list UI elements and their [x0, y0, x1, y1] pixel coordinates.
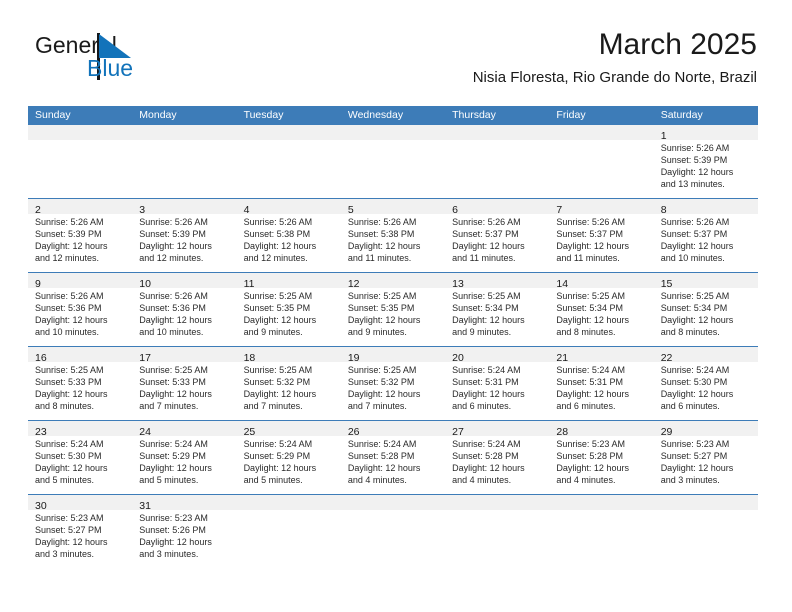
daylight-duration-line2: and 4 minutes.: [452, 474, 543, 486]
daylight-duration-line2: and 3 minutes.: [139, 548, 230, 560]
daylight-duration-line1: Daylight: 12 hours: [556, 388, 647, 400]
day-number: 12: [348, 278, 360, 290]
sunrise-time: Sunrise: 5:24 AM: [556, 364, 647, 376]
sunrise-time: Sunrise: 5:25 AM: [556, 290, 647, 302]
day-number-band: 8: [654, 199, 758, 214]
daylight-duration-line2: and 9 minutes.: [452, 326, 543, 338]
calendar-day-cell[interactable]: 8Sunrise: 5:26 AMSunset: 5:37 PMDaylight…: [654, 199, 758, 272]
day-number: 14: [556, 278, 568, 290]
sunrise-time: Sunrise: 5:25 AM: [244, 290, 335, 302]
sunrise-time: Sunrise: 5:25 AM: [139, 364, 230, 376]
calendar-day-cell[interactable]: 27Sunrise: 5:24 AMSunset: 5:28 PMDayligh…: [445, 421, 549, 494]
day-number: 31: [139, 500, 151, 512]
page-header: General Blue March 2025 Nisia Floresta, …: [35, 26, 757, 98]
day-number-band: 29: [654, 421, 758, 436]
day-number: 28: [556, 426, 568, 438]
calendar-day-cell-empty: [549, 125, 653, 198]
weekday-header-thursday: Thursday: [445, 106, 549, 125]
calendar-day-cell[interactable]: 1Sunrise: 5:26 AMSunset: 5:39 PMDaylight…: [654, 125, 758, 198]
day-details: Sunrise: 5:23 AMSunset: 5:26 PMDaylight:…: [132, 510, 236, 563]
daylight-duration-line1: Daylight: 12 hours: [35, 536, 126, 548]
day-number-band: 13: [445, 273, 549, 288]
sunrise-time: Sunrise: 5:26 AM: [35, 216, 126, 228]
weekday-header-tuesday: Tuesday: [237, 106, 341, 125]
title-block: March 2025 Nisia Floresta, Rio Grande do…: [473, 26, 757, 90]
day-details: Sunrise: 5:24 AMSunset: 5:28 PMDaylight:…: [341, 436, 445, 489]
calendar-week-row: 9Sunrise: 5:26 AMSunset: 5:36 PMDaylight…: [28, 273, 758, 347]
day-number-band: 12: [341, 273, 445, 288]
daylight-duration-line2: and 6 minutes.: [556, 400, 647, 412]
sunset-time: Sunset: 5:33 PM: [139, 376, 230, 388]
sunrise-time: Sunrise: 5:26 AM: [556, 216, 647, 228]
day-number-band: [28, 125, 132, 140]
sunrise-time: Sunrise: 5:23 AM: [661, 438, 752, 450]
day-number: 26: [348, 426, 360, 438]
day-details: Sunrise: 5:26 AMSunset: 5:38 PMDaylight:…: [237, 214, 341, 267]
sunrise-time: Sunrise: 5:26 AM: [661, 142, 752, 154]
sunset-time: Sunset: 5:31 PM: [556, 376, 647, 388]
day-number-band: 7: [549, 199, 653, 214]
calendar-day-cell[interactable]: 21Sunrise: 5:24 AMSunset: 5:31 PMDayligh…: [549, 347, 653, 420]
day-number-band: 2: [28, 199, 132, 214]
sunset-time: Sunset: 5:38 PM: [244, 228, 335, 240]
calendar-day-cell[interactable]: 19Sunrise: 5:25 AMSunset: 5:32 PMDayligh…: [341, 347, 445, 420]
sunrise-time: Sunrise: 5:26 AM: [661, 216, 752, 228]
sunset-time: Sunset: 5:38 PM: [348, 228, 439, 240]
daylight-duration-line1: Daylight: 12 hours: [661, 166, 752, 178]
day-number: 2: [35, 204, 41, 216]
brand-name-blue: Blue: [87, 55, 133, 81]
day-number-band: 6: [445, 199, 549, 214]
day-number: 22: [661, 352, 673, 364]
daylight-duration-line2: and 10 minutes.: [35, 326, 126, 338]
day-details: Sunrise: 5:25 AMSunset: 5:34 PMDaylight:…: [654, 288, 758, 341]
calendar-week-row: 1Sunrise: 5:26 AMSunset: 5:39 PMDaylight…: [28, 125, 758, 199]
day-number-band: 23: [28, 421, 132, 436]
calendar-grid: Sunday Monday Tuesday Wednesday Thursday…: [28, 106, 758, 568]
brand-logo[interactable]: General Blue: [35, 32, 215, 92]
calendar-day-cell[interactable]: 7Sunrise: 5:26 AMSunset: 5:37 PMDaylight…: [549, 199, 653, 272]
day-number-band: [549, 495, 653, 510]
day-number-band: 21: [549, 347, 653, 362]
day-number-band: 10: [132, 273, 236, 288]
calendar-day-cell-empty: [445, 495, 549, 568]
daylight-duration-line1: Daylight: 12 hours: [661, 388, 752, 400]
day-number-band: 15: [654, 273, 758, 288]
day-number-band: [237, 125, 341, 140]
daylight-duration-line1: Daylight: 12 hours: [661, 240, 752, 252]
daylight-duration-line1: Daylight: 12 hours: [139, 536, 230, 548]
day-number: 3: [139, 204, 145, 216]
sunrise-time: Sunrise: 5:26 AM: [348, 216, 439, 228]
day-number-band: 1: [654, 125, 758, 140]
daylight-duration-line2: and 8 minutes.: [556, 326, 647, 338]
daylight-duration-line1: Daylight: 12 hours: [452, 314, 543, 326]
sunset-time: Sunset: 5:33 PM: [35, 376, 126, 388]
day-number-band: 28: [549, 421, 653, 436]
calendar-day-cell[interactable]: 25Sunrise: 5:24 AMSunset: 5:29 PMDayligh…: [237, 421, 341, 494]
calendar-day-cell[interactable]: 28Sunrise: 5:23 AMSunset: 5:28 PMDayligh…: [549, 421, 653, 494]
daylight-duration-line2: and 11 minutes.: [452, 252, 543, 264]
daylight-duration-line2: and 4 minutes.: [348, 474, 439, 486]
day-number: 21: [556, 352, 568, 364]
day-number-band: 18: [237, 347, 341, 362]
sunset-time: Sunset: 5:30 PM: [661, 376, 752, 388]
calendar-day-cell[interactable]: 6Sunrise: 5:26 AMSunset: 5:37 PMDaylight…: [445, 199, 549, 272]
day-number-band: 16: [28, 347, 132, 362]
sunset-time: Sunset: 5:34 PM: [661, 302, 752, 314]
daylight-duration-line2: and 11 minutes.: [556, 252, 647, 264]
sunrise-time: Sunrise: 5:25 AM: [348, 290, 439, 302]
daylight-duration-line1: Daylight: 12 hours: [452, 462, 543, 474]
page-title: March 2025: [473, 26, 757, 64]
sunset-time: Sunset: 5:39 PM: [661, 154, 752, 166]
sunrise-time: Sunrise: 5:25 AM: [348, 364, 439, 376]
daylight-duration-line2: and 10 minutes.: [139, 326, 230, 338]
calendar-day-cell-empty: [237, 495, 341, 568]
day-number-band: [341, 495, 445, 510]
page-subtitle: Nisia Floresta, Rio Grande do Norte, Bra…: [473, 66, 757, 90]
sunrise-time: Sunrise: 5:26 AM: [35, 290, 126, 302]
sunrise-time: Sunrise: 5:26 AM: [452, 216, 543, 228]
calendar-page: General Blue March 2025 Nisia Floresta, …: [0, 0, 792, 612]
day-details: Sunrise: 5:24 AMSunset: 5:31 PMDaylight:…: [445, 362, 549, 415]
sunset-time: Sunset: 5:39 PM: [35, 228, 126, 240]
calendar-day-cell[interactable]: 26Sunrise: 5:24 AMSunset: 5:28 PMDayligh…: [341, 421, 445, 494]
day-details: Sunrise: 5:26 AMSunset: 5:37 PMDaylight:…: [445, 214, 549, 267]
sunset-time: Sunset: 5:28 PM: [452, 450, 543, 462]
daylight-duration-line1: Daylight: 12 hours: [661, 314, 752, 326]
day-number-band: [549, 125, 653, 140]
weekday-header-sunday: Sunday: [28, 106, 132, 125]
sunset-time: Sunset: 5:36 PM: [139, 302, 230, 314]
daylight-duration-line2: and 12 minutes.: [244, 252, 335, 264]
day-number-band: 19: [341, 347, 445, 362]
day-number-band: 31: [132, 495, 236, 510]
daylight-duration-line2: and 6 minutes.: [452, 400, 543, 412]
sunrise-time: Sunrise: 5:26 AM: [139, 216, 230, 228]
calendar-day-cell[interactable]: 3Sunrise: 5:26 AMSunset: 5:39 PMDaylight…: [132, 199, 236, 272]
calendar-day-cell-empty: [341, 495, 445, 568]
calendar-day-cell-empty: [132, 125, 236, 198]
calendar-day-cell[interactable]: 24Sunrise: 5:24 AMSunset: 5:29 PMDayligh…: [132, 421, 236, 494]
day-number: 13: [452, 278, 464, 290]
sunset-time: Sunset: 5:32 PM: [348, 376, 439, 388]
sunset-time: Sunset: 5:34 PM: [556, 302, 647, 314]
sunrise-time: Sunrise: 5:23 AM: [35, 512, 126, 524]
day-number: 27: [452, 426, 464, 438]
day-number-band: 30: [28, 495, 132, 510]
calendar-day-cell[interactable]: 14Sunrise: 5:25 AMSunset: 5:34 PMDayligh…: [549, 273, 653, 346]
daylight-duration-line1: Daylight: 12 hours: [661, 462, 752, 474]
sunrise-time: Sunrise: 5:24 AM: [452, 438, 543, 450]
daylight-duration-line2: and 3 minutes.: [35, 548, 126, 560]
daylight-duration-line2: and 5 minutes.: [244, 474, 335, 486]
sunset-time: Sunset: 5:31 PM: [452, 376, 543, 388]
daylight-duration-line1: Daylight: 12 hours: [35, 462, 126, 474]
day-number: 25: [244, 426, 256, 438]
daylight-duration-line2: and 5 minutes.: [35, 474, 126, 486]
calendar-day-cell[interactable]: 23Sunrise: 5:24 AMSunset: 5:30 PMDayligh…: [28, 421, 132, 494]
day-details: Sunrise: 5:25 AMSunset: 5:34 PMDaylight:…: [445, 288, 549, 341]
day-details: Sunrise: 5:24 AMSunset: 5:29 PMDaylight:…: [132, 436, 236, 489]
calendar-day-cell[interactable]: 11Sunrise: 5:25 AMSunset: 5:35 PMDayligh…: [237, 273, 341, 346]
sunset-time: Sunset: 5:29 PM: [139, 450, 230, 462]
day-number: 19: [348, 352, 360, 364]
daylight-duration-line1: Daylight: 12 hours: [556, 314, 647, 326]
sunrise-time: Sunrise: 5:24 AM: [452, 364, 543, 376]
weekday-header-row: Sunday Monday Tuesday Wednesday Thursday…: [28, 106, 758, 125]
sunset-time: Sunset: 5:36 PM: [35, 302, 126, 314]
daylight-duration-line2: and 13 minutes.: [661, 178, 752, 190]
day-details: Sunrise: 5:25 AMSunset: 5:33 PMDaylight:…: [132, 362, 236, 415]
day-number: 6: [452, 204, 458, 216]
sunset-time: Sunset: 5:30 PM: [35, 450, 126, 462]
daylight-duration-line1: Daylight: 12 hours: [139, 462, 230, 474]
daylight-duration-line2: and 7 minutes.: [244, 400, 335, 412]
calendar-week-row: 16Sunrise: 5:25 AMSunset: 5:33 PMDayligh…: [28, 347, 758, 421]
daylight-duration-line1: Daylight: 12 hours: [348, 388, 439, 400]
calendar-day-cell[interactable]: 18Sunrise: 5:25 AMSunset: 5:32 PMDayligh…: [237, 347, 341, 420]
daylight-duration-line2: and 8 minutes.: [35, 400, 126, 412]
day-number-band: 17: [132, 347, 236, 362]
calendar-day-cell[interactable]: 16Sunrise: 5:25 AMSunset: 5:33 PMDayligh…: [28, 347, 132, 420]
day-details: Sunrise: 5:23 AMSunset: 5:27 PMDaylight:…: [28, 510, 132, 563]
calendar-day-cell[interactable]: 20Sunrise: 5:24 AMSunset: 5:31 PMDayligh…: [445, 347, 549, 420]
calendar-day-cell[interactable]: 10Sunrise: 5:26 AMSunset: 5:36 PMDayligh…: [132, 273, 236, 346]
day-details: Sunrise: 5:26 AMSunset: 5:39 PMDaylight:…: [654, 140, 758, 193]
day-details: Sunrise: 5:24 AMSunset: 5:30 PMDaylight:…: [654, 362, 758, 415]
day-details: Sunrise: 5:25 AMSunset: 5:33 PMDaylight:…: [28, 362, 132, 415]
day-details: Sunrise: 5:26 AMSunset: 5:37 PMDaylight:…: [654, 214, 758, 267]
sunset-time: Sunset: 5:32 PM: [244, 376, 335, 388]
calendar-day-cell[interactable]: 17Sunrise: 5:25 AMSunset: 5:33 PMDayligh…: [132, 347, 236, 420]
daylight-duration-line2: and 10 minutes.: [661, 252, 752, 264]
sunset-time: Sunset: 5:27 PM: [35, 524, 126, 536]
calendar-day-cell[interactable]: 5Sunrise: 5:26 AMSunset: 5:38 PMDaylight…: [341, 199, 445, 272]
calendar-weeks: 1Sunrise: 5:26 AMSunset: 5:39 PMDaylight…: [28, 125, 758, 568]
daylight-duration-line1: Daylight: 12 hours: [452, 240, 543, 252]
sunset-time: Sunset: 5:35 PM: [348, 302, 439, 314]
daylight-duration-line2: and 7 minutes.: [139, 400, 230, 412]
day-details: Sunrise: 5:24 AMSunset: 5:28 PMDaylight:…: [445, 436, 549, 489]
sunrise-time: Sunrise: 5:24 AM: [348, 438, 439, 450]
daylight-duration-line1: Daylight: 12 hours: [244, 462, 335, 474]
sunset-time: Sunset: 5:35 PM: [244, 302, 335, 314]
calendar-week-row: 30Sunrise: 5:23 AMSunset: 5:27 PMDayligh…: [28, 495, 758, 568]
day-details: Sunrise: 5:24 AMSunset: 5:31 PMDaylight:…: [549, 362, 653, 415]
sunset-time: Sunset: 5:26 PM: [139, 524, 230, 536]
calendar-day-cell[interactable]: 12Sunrise: 5:25 AMSunset: 5:35 PMDayligh…: [341, 273, 445, 346]
weekday-header-monday: Monday: [132, 106, 236, 125]
day-number: 15: [661, 278, 673, 290]
day-details: Sunrise: 5:25 AMSunset: 5:34 PMDaylight:…: [549, 288, 653, 341]
calendar-day-cell[interactable]: 2Sunrise: 5:26 AMSunset: 5:39 PMDaylight…: [28, 199, 132, 272]
daylight-duration-line2: and 5 minutes.: [139, 474, 230, 486]
sunset-time: Sunset: 5:29 PM: [244, 450, 335, 462]
calendar-day-cell-empty: [549, 495, 653, 568]
day-number-band: 20: [445, 347, 549, 362]
daylight-duration-line2: and 9 minutes.: [348, 326, 439, 338]
day-number: 4: [244, 204, 250, 216]
day-number-band: 5: [341, 199, 445, 214]
day-number: 29: [661, 426, 673, 438]
calendar-day-cell-empty: [341, 125, 445, 198]
daylight-duration-line1: Daylight: 12 hours: [139, 240, 230, 252]
day-number-band: [237, 495, 341, 510]
weekday-header-friday: Friday: [549, 106, 653, 125]
day-number-band: 9: [28, 273, 132, 288]
calendar-day-cell-empty: [654, 495, 758, 568]
weekday-header-wednesday: Wednesday: [341, 106, 445, 125]
sunset-time: Sunset: 5:37 PM: [661, 228, 752, 240]
sunrise-time: Sunrise: 5:23 AM: [556, 438, 647, 450]
day-number-band: [445, 495, 549, 510]
day-number-band: 11: [237, 273, 341, 288]
daylight-duration-line2: and 9 minutes.: [244, 326, 335, 338]
day-number: 5: [348, 204, 354, 216]
sunrise-time: Sunrise: 5:25 AM: [452, 290, 543, 302]
daylight-duration-line1: Daylight: 12 hours: [244, 314, 335, 326]
daylight-duration-line2: and 11 minutes.: [348, 252, 439, 264]
sunset-time: Sunset: 5:37 PM: [452, 228, 543, 240]
day-details: Sunrise: 5:26 AMSunset: 5:39 PMDaylight:…: [132, 214, 236, 267]
day-number-band: 24: [132, 421, 236, 436]
sunrise-time: Sunrise: 5:24 AM: [244, 438, 335, 450]
daylight-duration-line2: and 4 minutes.: [556, 474, 647, 486]
day-number: 24: [139, 426, 151, 438]
calendar-day-cell-empty: [237, 125, 341, 198]
calendar-day-cell[interactable]: 4Sunrise: 5:26 AMSunset: 5:38 PMDaylight…: [237, 199, 341, 272]
day-number-band: [341, 125, 445, 140]
day-number-band: 22: [654, 347, 758, 362]
day-number-band: 26: [341, 421, 445, 436]
day-details: Sunrise: 5:26 AMSunset: 5:39 PMDaylight:…: [28, 214, 132, 267]
calendar-day-cell[interactable]: 31Sunrise: 5:23 AMSunset: 5:26 PMDayligh…: [132, 495, 236, 568]
sunrise-time: Sunrise: 5:26 AM: [139, 290, 230, 302]
day-number: 10: [139, 278, 151, 290]
sunset-time: Sunset: 5:27 PM: [661, 450, 752, 462]
sunset-time: Sunset: 5:28 PM: [348, 450, 439, 462]
daylight-duration-line2: and 6 minutes.: [661, 400, 752, 412]
day-details: Sunrise: 5:23 AMSunset: 5:28 PMDaylight:…: [549, 436, 653, 489]
day-number-band: [654, 495, 758, 510]
sunrise-time: Sunrise: 5:24 AM: [35, 438, 126, 450]
weekday-header-saturday: Saturday: [654, 106, 758, 125]
daylight-duration-line1: Daylight: 12 hours: [244, 388, 335, 400]
day-number-band: 3: [132, 199, 236, 214]
daylight-duration-line2: and 12 minutes.: [139, 252, 230, 264]
calendar-day-cell[interactable]: 29Sunrise: 5:23 AMSunset: 5:27 PMDayligh…: [654, 421, 758, 494]
daylight-duration-line1: Daylight: 12 hours: [139, 388, 230, 400]
day-details: Sunrise: 5:26 AMSunset: 5:38 PMDaylight:…: [341, 214, 445, 267]
day-number-band: 25: [237, 421, 341, 436]
daylight-duration-line1: Daylight: 12 hours: [35, 388, 126, 400]
sunrise-time: Sunrise: 5:26 AM: [244, 216, 335, 228]
day-details: Sunrise: 5:25 AMSunset: 5:32 PMDaylight:…: [341, 362, 445, 415]
calendar-day-cell[interactable]: 13Sunrise: 5:25 AMSunset: 5:34 PMDayligh…: [445, 273, 549, 346]
daylight-duration-line1: Daylight: 12 hours: [35, 240, 126, 252]
day-number: 8: [661, 204, 667, 216]
sunrise-time: Sunrise: 5:25 AM: [661, 290, 752, 302]
daylight-duration-line1: Daylight: 12 hours: [348, 462, 439, 474]
calendar-day-cell-empty: [28, 125, 132, 198]
day-number-band: 14: [549, 273, 653, 288]
calendar-day-cell[interactable]: 9Sunrise: 5:26 AMSunset: 5:36 PMDaylight…: [28, 273, 132, 346]
daylight-duration-line1: Daylight: 12 hours: [348, 240, 439, 252]
calendar-day-cell-empty: [445, 125, 549, 198]
daylight-duration-line1: Daylight: 12 hours: [139, 314, 230, 326]
calendar-day-cell[interactable]: 22Sunrise: 5:24 AMSunset: 5:30 PMDayligh…: [654, 347, 758, 420]
daylight-duration-line1: Daylight: 12 hours: [348, 314, 439, 326]
daylight-duration-line2: and 7 minutes.: [348, 400, 439, 412]
calendar-week-row: 23Sunrise: 5:24 AMSunset: 5:30 PMDayligh…: [28, 421, 758, 495]
day-details: Sunrise: 5:25 AMSunset: 5:35 PMDaylight:…: [237, 288, 341, 341]
daylight-duration-line2: and 12 minutes.: [35, 252, 126, 264]
day-details: Sunrise: 5:26 AMSunset: 5:37 PMDaylight:…: [549, 214, 653, 267]
daylight-duration-line1: Daylight: 12 hours: [452, 388, 543, 400]
day-number: 9: [35, 278, 41, 290]
daylight-duration-line1: Daylight: 12 hours: [35, 314, 126, 326]
day-details: Sunrise: 5:25 AMSunset: 5:32 PMDaylight:…: [237, 362, 341, 415]
sunset-time: Sunset: 5:28 PM: [556, 450, 647, 462]
calendar-day-cell[interactable]: 15Sunrise: 5:25 AMSunset: 5:34 PMDayligh…: [654, 273, 758, 346]
day-number: 7: [556, 204, 562, 216]
day-number: 30: [35, 500, 47, 512]
day-number: 18: [244, 352, 256, 364]
day-details: Sunrise: 5:25 AMSunset: 5:35 PMDaylight:…: [341, 288, 445, 341]
day-number-band: 4: [237, 199, 341, 214]
day-details: Sunrise: 5:24 AMSunset: 5:30 PMDaylight:…: [28, 436, 132, 489]
day-details: Sunrise: 5:24 AMSunset: 5:29 PMDaylight:…: [237, 436, 341, 489]
sunrise-time: Sunrise: 5:25 AM: [35, 364, 126, 376]
sunrise-time: Sunrise: 5:25 AM: [244, 364, 335, 376]
day-number-band: [132, 125, 236, 140]
day-details: Sunrise: 5:23 AMSunset: 5:27 PMDaylight:…: [654, 436, 758, 489]
day-details: Sunrise: 5:26 AMSunset: 5:36 PMDaylight:…: [132, 288, 236, 341]
day-number: 17: [139, 352, 151, 364]
sunrise-time: Sunrise: 5:24 AM: [139, 438, 230, 450]
calendar-week-row: 2Sunrise: 5:26 AMSunset: 5:39 PMDaylight…: [28, 199, 758, 273]
day-number-band: [445, 125, 549, 140]
daylight-duration-line1: Daylight: 12 hours: [556, 462, 647, 474]
sunrise-time: Sunrise: 5:23 AM: [139, 512, 230, 524]
daylight-duration-line2: and 3 minutes.: [661, 474, 752, 486]
daylight-duration-line2: and 8 minutes.: [661, 326, 752, 338]
day-details: Sunrise: 5:26 AMSunset: 5:36 PMDaylight:…: [28, 288, 132, 341]
day-number: 16: [35, 352, 47, 364]
day-number: 11: [244, 278, 255, 290]
sunset-time: Sunset: 5:39 PM: [139, 228, 230, 240]
day-number: 1: [661, 130, 667, 142]
day-number: 20: [452, 352, 464, 364]
daylight-duration-line1: Daylight: 12 hours: [244, 240, 335, 252]
sunset-time: Sunset: 5:34 PM: [452, 302, 543, 314]
day-number-band: 27: [445, 421, 549, 436]
calendar-day-cell[interactable]: 30Sunrise: 5:23 AMSunset: 5:27 PMDayligh…: [28, 495, 132, 568]
sunset-time: Sunset: 5:37 PM: [556, 228, 647, 240]
daylight-duration-line1: Daylight: 12 hours: [556, 240, 647, 252]
sunrise-time: Sunrise: 5:24 AM: [661, 364, 752, 376]
day-number: 23: [35, 426, 47, 438]
